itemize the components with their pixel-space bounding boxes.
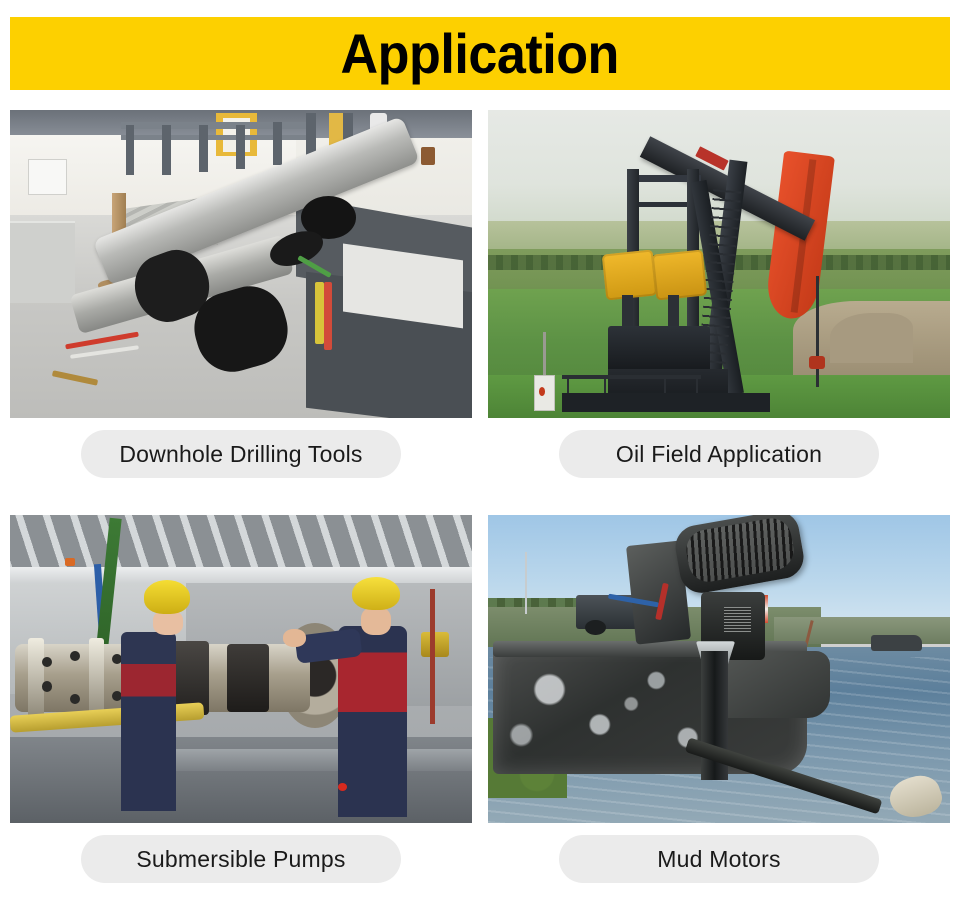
scene-pump-assembly [10, 515, 472, 823]
label-pill-mud-motors[interactable]: Mud Motors [559, 835, 879, 883]
label-text: Submersible Pumps [136, 846, 345, 873]
page-title: Application [341, 25, 619, 83]
label-wrap: Mud Motors [488, 823, 950, 895]
label-pill-submersible-pumps[interactable]: Submersible Pumps [81, 835, 401, 883]
hard-hat-left [144, 580, 190, 614]
gallery-row: Submersible Pumps [0, 515, 960, 920]
photo-submersible-pumps [10, 515, 472, 823]
pumpjack-counterweight-left [601, 249, 656, 300]
page-header-banner: Application [10, 17, 950, 90]
label-text: Mud Motors [657, 846, 780, 873]
label-wrap: Oil Field Application [488, 418, 950, 490]
gallery-card-mud-motors[interactable]: Mud Motors [488, 515, 950, 895]
label-text: Oil Field Application [616, 441, 822, 468]
gallery-card-submersible-pumps[interactable]: Submersible Pumps [10, 515, 472, 895]
label-wrap: Submersible Pumps [10, 823, 472, 895]
label-wrap: Downhole Drilling Tools [10, 418, 472, 490]
worker-left [121, 632, 176, 811]
photo-oil-field-application [488, 110, 950, 418]
application-gallery: Downhole Drilling Tools [0, 110, 960, 920]
label-pill-downhole-drilling-tools[interactable]: Downhole Drilling Tools [81, 430, 401, 478]
hard-hat-right [352, 577, 401, 611]
scene-workshop-interior [10, 110, 472, 418]
gallery-card-oil-field-application[interactable]: Oil Field Application [488, 110, 950, 490]
gallery-card-downhole-drilling-tools[interactable]: Downhole Drilling Tools [10, 110, 472, 490]
label-pill-oil-field-application[interactable]: Oil Field Application [559, 430, 879, 478]
pumpjack-counterweight-right [652, 249, 707, 300]
photo-mud-motors [488, 515, 950, 823]
photo-downhole-drilling-tools [10, 110, 472, 418]
scene-boat-mud-motor [488, 515, 950, 823]
label-text: Downhole Drilling Tools [119, 441, 362, 468]
gallery-row: Downhole Drilling Tools [0, 110, 960, 515]
scene-pumpjack-field [488, 110, 950, 418]
